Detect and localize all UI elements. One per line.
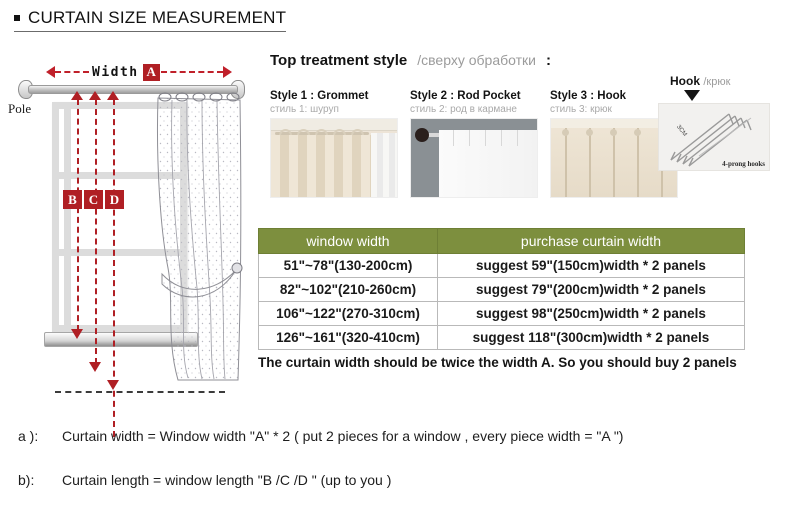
formula-b-key: b): bbox=[18, 472, 62, 488]
top-treatment-title: Top treatment style bbox=[270, 52, 407, 69]
table-header-row: window width purchase curtain width bbox=[259, 229, 745, 254]
table-note: The curtain width should be twice the wi… bbox=[258, 355, 737, 370]
table-row: 126"~161"(320-410cm) suggest 118"(300cm)… bbox=[259, 326, 745, 350]
cell-window-width: 126"~161"(320-410cm) bbox=[259, 326, 438, 350]
width-label: Width bbox=[89, 65, 142, 80]
page-title: CURTAIN SIZE MEASUREMENT bbox=[14, 8, 286, 28]
top-treatment-header: Top treatment style /сверху обработки : bbox=[258, 52, 800, 69]
cell-purchase-width: suggest 79"(200cm)width * 2 panels bbox=[437, 278, 744, 302]
cell-window-width: 51"~78"(130-200cm) bbox=[259, 254, 438, 278]
drop-line-c bbox=[95, 99, 97, 364]
four-prong-hooks-photo: 3CM 4-prong hooks bbox=[658, 103, 770, 171]
title-divider bbox=[14, 31, 286, 32]
hook-photo-caption: 4-prong hooks bbox=[722, 160, 765, 168]
arrow-right-icon bbox=[223, 66, 232, 78]
formula-a-text: Curtain width = Window width "A" * 2 ( p… bbox=[62, 428, 623, 444]
cell-window-width: 82"~102"(210-260cm) bbox=[259, 278, 438, 302]
badge-b: B bbox=[63, 190, 82, 209]
page-title-text: CURTAIN SIZE MEASUREMENT bbox=[28, 8, 286, 28]
formula-a-key: a ): bbox=[18, 428, 62, 444]
arrow-down-icon-d bbox=[107, 380, 119, 390]
curtain-line-art-svg bbox=[152, 88, 244, 388]
column-header-window-width: window width bbox=[259, 229, 438, 254]
curtain-width-table: window width purchase curtain width 51"~… bbox=[258, 228, 745, 350]
cell-purchase-width: suggest 98"(250cm)width * 2 panels bbox=[437, 302, 744, 326]
badge-d: D bbox=[105, 190, 124, 209]
drop-badges: B C D bbox=[63, 190, 124, 209]
style-2-name-ru: стиль 2: род в кармане bbox=[410, 104, 538, 115]
width-dimension-arrow: Width A bbox=[46, 62, 232, 82]
grommet-curtain-photo bbox=[270, 118, 398, 198]
table-row: 82"~102"(210-260cm) suggest 79"(200cm)wi… bbox=[259, 278, 745, 302]
curtain-size-measurement-page: CURTAIN SIZE MEASUREMENT Width A Pole bbox=[0, 0, 800, 532]
arrow-left-icon bbox=[46, 66, 55, 78]
top-treatment-section: Top treatment style /сверху обработки : … bbox=[258, 52, 800, 69]
formula-line-a: a ):Curtain width = Window width "A" * 2… bbox=[18, 428, 623, 444]
square-bullet-icon bbox=[14, 15, 20, 21]
window-measurement-diagram: Width A Pole B C D bbox=[0, 44, 258, 389]
hook-callout-label-ru: /крюк bbox=[703, 76, 730, 88]
top-treatment-colon: : bbox=[546, 52, 551, 69]
style-1-name-ru: стиль 1: шуруп bbox=[270, 104, 398, 115]
formula-line-b: b):Curtain length = window length "B /C … bbox=[18, 472, 391, 488]
drop-line-b bbox=[77, 99, 79, 331]
table-row: 51"~78"(130-200cm) suggest 59"(150cm)wid… bbox=[259, 254, 745, 278]
formula-b-text: Curtain length = window length "B /C /D … bbox=[62, 472, 391, 488]
table-row: 106"~122"(270-310cm) suggest 98"(250cm)w… bbox=[259, 302, 745, 326]
style-1-name: Style 1 : Grommet bbox=[270, 90, 398, 102]
badge-a: A bbox=[143, 64, 160, 81]
dimension-line-right bbox=[161, 71, 223, 73]
cell-purchase-width: suggest 118"(300cm)width * 2 panels bbox=[437, 326, 744, 350]
dimension-line-left bbox=[55, 71, 89, 73]
cell-purchase-width: suggest 59"(150cm)width * 2 panels bbox=[437, 254, 744, 278]
floor-line bbox=[55, 391, 225, 393]
pole-label: Pole bbox=[8, 101, 31, 117]
hook-callout-label-en: Hook bbox=[670, 74, 700, 88]
hook-callout-label: Hook /крюк bbox=[658, 74, 798, 88]
arrow-down-icon-c bbox=[89, 362, 101, 372]
window-mullion-vertical bbox=[64, 102, 71, 332]
style-list: Style 1 : Grommet стиль 1: шуруп Style 2… bbox=[270, 90, 680, 198]
rod-pocket-curtain-photo bbox=[410, 118, 538, 198]
cell-window-width: 106"~122"(270-310cm) bbox=[259, 302, 438, 326]
style-2-name: Style 2 : Rod Pocket bbox=[410, 90, 538, 102]
arrow-down-icon-b bbox=[71, 329, 83, 339]
hook-callout: Hook /крюк 3CM 4-prong hooks bbox=[658, 74, 798, 171]
arrow-down-icon bbox=[684, 90, 700, 101]
column-header-purchase-width: purchase curtain width bbox=[437, 229, 744, 254]
style-item-rod-pocket: Style 2 : Rod Pocket стиль 2: род в карм… bbox=[410, 90, 538, 198]
top-treatment-title-ru: /сверху обработки bbox=[417, 52, 536, 68]
badge-c: C bbox=[84, 190, 103, 209]
style-item-grommet: Style 1 : Grommet стиль 1: шуруп bbox=[270, 90, 398, 198]
curtain-illustration bbox=[152, 88, 244, 388]
